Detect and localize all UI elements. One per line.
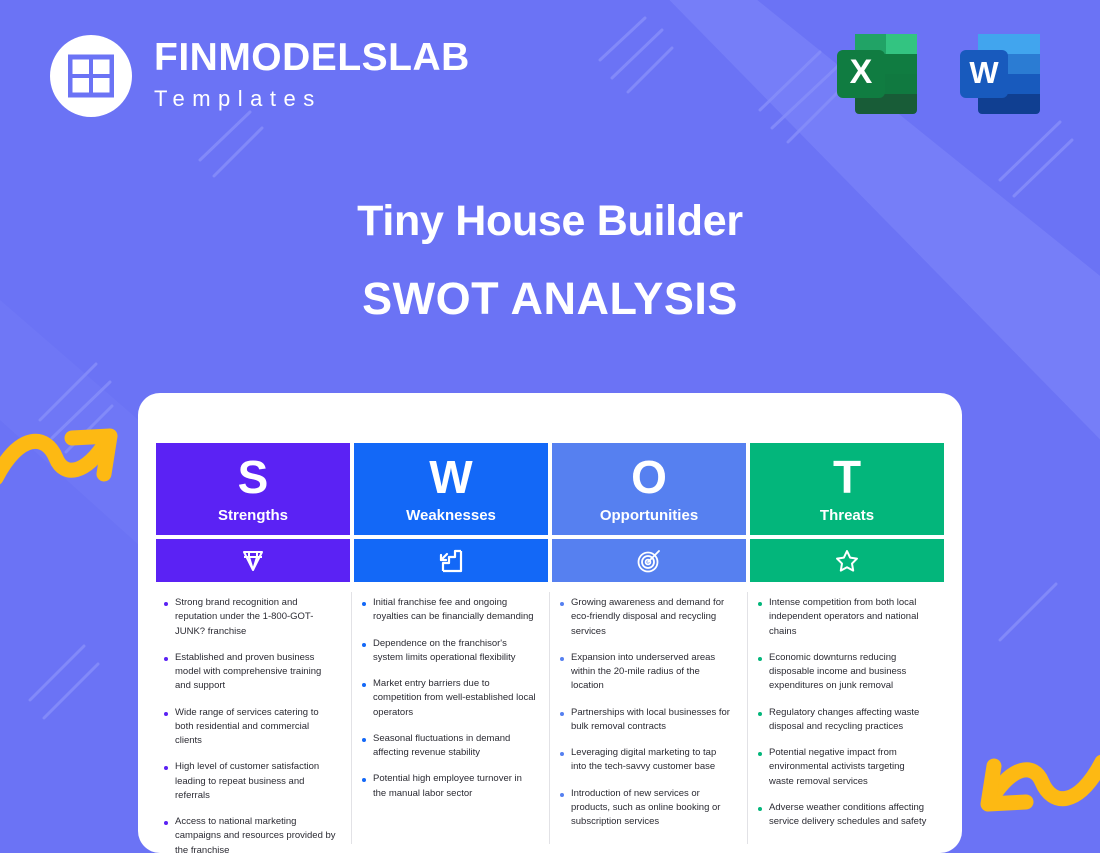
target-icon: [636, 548, 662, 574]
list-item: Economic downturns reducing disposable i…: [758, 651, 932, 694]
excel-icon: X: [829, 26, 925, 122]
column-header-opportunities: O Opportunities: [552, 443, 746, 535]
bullet-dot: [758, 657, 762, 661]
list-item-text: Strong brand recognition and reputation …: [175, 596, 338, 639]
list-item-text: Partnerships with local businesses for b…: [571, 706, 734, 735]
list-item-text: Expansion into underserved areas within …: [571, 651, 734, 694]
bullet-dot: [164, 712, 168, 716]
column-body-weaknesses: Initial franchise fee and ongoing royalt…: [354, 582, 548, 813]
svg-text:X: X: [850, 53, 873, 91]
list-item-text: Leveraging digital marketing to tap into…: [571, 746, 734, 775]
list-item: Regulatory changes affecting waste dispo…: [758, 706, 932, 735]
list-item: Access to national marketing campaigns a…: [164, 815, 338, 853]
brand-mark: [50, 35, 132, 117]
swot-column-threats: T Threats Intense competition from both …: [750, 443, 944, 853]
list-item: Growing awareness and demand for eco-fri…: [560, 596, 734, 639]
bullet-dot: [164, 602, 168, 606]
bullet-dot: [362, 683, 366, 687]
bullet-dot: [560, 657, 564, 661]
page-subtitle: SWOT ANALYSIS: [0, 271, 1100, 327]
list-item: Dependence on the franchisor's system li…: [362, 637, 536, 666]
list-item-text: Established and proven business model wi…: [175, 651, 338, 694]
list-item: Potential high employee turnover in the …: [362, 772, 536, 801]
list-item: Potential negative impact from environme…: [758, 746, 932, 789]
list-item-text: Potential high employee turnover in the …: [373, 772, 536, 801]
list-item: Adverse weather conditions affecting ser…: [758, 801, 932, 830]
column-letter: T: [833, 454, 861, 500]
list-item-text: Seasonal fluctuations in demand affectin…: [373, 732, 536, 761]
list-item: Leveraging digital marketing to tap into…: [560, 746, 734, 775]
list-item: Wide range of services catering to both …: [164, 706, 338, 749]
column-header-weaknesses: W Weaknesses: [354, 443, 548, 535]
column-icon-strip-weaknesses: [354, 539, 548, 582]
list-item-text: Regulatory changes affecting waste dispo…: [769, 706, 932, 735]
list-item-text: Adverse weather conditions affecting ser…: [769, 801, 932, 830]
column-body-strengths: Strong brand recognition and reputation …: [156, 582, 350, 853]
list-item-text: Growing awareness and demand for eco-fri…: [571, 596, 734, 639]
swot-grid: S Strengths Strong brand recognition and…: [156, 443, 944, 853]
list-item-text: Economic downturns reducing disposable i…: [769, 651, 932, 694]
column-body-opportunities: Growing awareness and demand for eco-fri…: [552, 582, 746, 841]
bullet-dot: [164, 766, 168, 770]
bullet-dot: [362, 643, 366, 647]
svg-text:W: W: [969, 55, 999, 90]
brand-subtitle: Templates: [154, 84, 470, 114]
list-item: Intense competition from both local inde…: [758, 596, 932, 639]
squiggle-arrow-down-left-icon: [974, 752, 1100, 844]
bullet-dot: [362, 738, 366, 742]
column-label: Threats: [820, 507, 874, 524]
column-icon-strip-threats: [750, 539, 944, 582]
list-item-text: Wide range of services catering to both …: [175, 706, 338, 749]
bullet-dot: [758, 807, 762, 811]
squiggle-arrow-up-right-icon: [0, 398, 124, 490]
bullet-dot: [560, 712, 564, 716]
swot-column-opportunities: O Opportunities Growing awareness and de…: [552, 443, 746, 853]
brand-name: FINMODELSLAB: [154, 38, 470, 77]
list-item-text: High level of customer satisfaction lead…: [175, 760, 338, 803]
office-icons: X W: [829, 26, 1048, 122]
descending-stairs-icon: [438, 548, 464, 574]
diamond-icon: [240, 548, 266, 574]
bullet-dot: [758, 712, 762, 716]
word-icon: W: [952, 26, 1048, 122]
column-letter: W: [429, 454, 472, 500]
list-item-text: Market entry barriers due to competition…: [373, 677, 536, 720]
list-item-text: Access to national marketing campaigns a…: [175, 815, 338, 853]
star-icon: [834, 548, 860, 574]
column-icon-strip-opportunities: [552, 539, 746, 582]
list-item-text: Intense competition from both local inde…: [769, 596, 932, 639]
bullet-dot: [560, 793, 564, 797]
list-item: High level of customer satisfaction lead…: [164, 760, 338, 803]
swot-column-weaknesses: W Weaknesses Initial franchise fee and o…: [354, 443, 548, 853]
bullet-dot: [560, 752, 564, 756]
list-item: Initial franchise fee and ongoing royalt…: [362, 596, 536, 625]
column-body-threats: Intense competition from both local inde…: [750, 582, 944, 841]
swot-card: S Strengths Strong brand recognition and…: [138, 393, 962, 853]
page-title: Tiny House Builder: [0, 195, 1100, 249]
column-label: Strengths: [218, 507, 288, 524]
brand-logo: FINMODELSLAB Templates: [50, 35, 470, 117]
column-label: Opportunities: [600, 507, 698, 524]
list-item: Established and proven business model wi…: [164, 651, 338, 694]
bullet-dot: [362, 778, 366, 782]
bullet-dot: [758, 602, 762, 606]
bullet-dot: [758, 752, 762, 756]
brand-text: FINMODELSLAB Templates: [154, 38, 470, 114]
column-letter: S: [238, 454, 269, 500]
list-item: Introduction of new services or products…: [560, 787, 734, 830]
bullet-dot: [362, 602, 366, 606]
bullet-dot: [560, 602, 564, 606]
list-item: Expansion into underserved areas within …: [560, 651, 734, 694]
bullet-dot: [164, 821, 168, 825]
list-item-text: Potential negative impact from environme…: [769, 746, 932, 789]
list-item-text: Dependence on the franchisor's system li…: [373, 637, 536, 666]
list-item: Strong brand recognition and reputation …: [164, 596, 338, 639]
grid-squares-icon: [68, 53, 114, 99]
list-item: Market entry barriers due to competition…: [362, 677, 536, 720]
column-label: Weaknesses: [406, 507, 496, 524]
bullet-dot: [164, 657, 168, 661]
list-item: Partnerships with local businesses for b…: [560, 706, 734, 735]
list-item-text: Initial franchise fee and ongoing royalt…: [373, 596, 536, 625]
list-item-text: Introduction of new services or products…: [571, 787, 734, 830]
column-letter: O: [631, 454, 667, 500]
list-item: Seasonal fluctuations in demand affectin…: [362, 732, 536, 761]
column-icon-strip-strengths: [156, 539, 350, 582]
column-header-threats: T Threats: [750, 443, 944, 535]
column-header-strengths: S Strengths: [156, 443, 350, 535]
title-block: Tiny House Builder SWOT ANALYSIS: [0, 195, 1100, 327]
swot-column-strengths: S Strengths Strong brand recognition and…: [156, 443, 350, 853]
page-header: FINMODELSLAB Templates X W: [0, 0, 1100, 160]
